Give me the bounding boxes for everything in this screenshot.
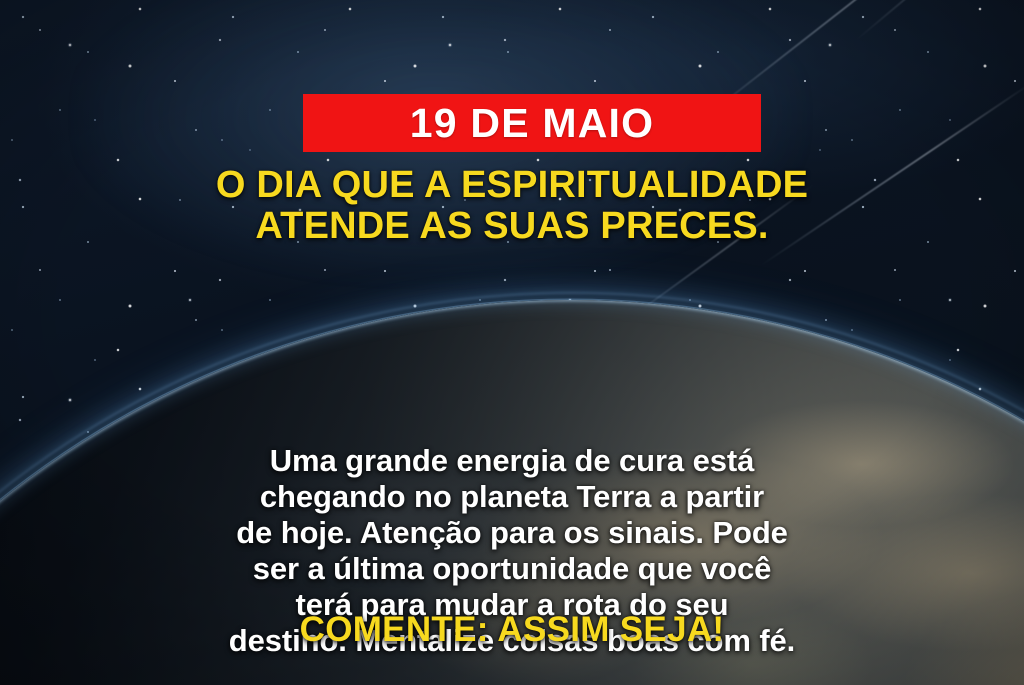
date-banner-label: 19 DE MAIO [410, 103, 654, 144]
headline-line-2: ATENDE AS SUAS PRECES. [40, 206, 984, 247]
call-to-action-label: COMENTE: ASSIM SEJA! [300, 610, 725, 649]
body-line-3: de hoje. Atenção para os sinais. Pode [55, 515, 969, 551]
body-line-4: ser a última oportunidade que você [55, 551, 969, 587]
call-to-action: COMENTE: ASSIM SEJA! [0, 612, 1024, 647]
date-banner: 19 DE MAIO [303, 94, 761, 152]
poster-canvas: 19 DE MAIO O DIA QUE A ESPIRITUALIDADE A… [0, 0, 1024, 685]
body-line-1: Uma grande energia de cura está [55, 443, 969, 479]
body-line-2: chegando no planeta Terra a partir [55, 479, 969, 515]
headline-line-1: O DIA QUE A ESPIRITUALIDADE [40, 165, 984, 206]
headline: O DIA QUE A ESPIRITUALIDADE ATENDE AS SU… [0, 165, 1024, 247]
poster-content: 19 DE MAIO O DIA QUE A ESPIRITUALIDADE A… [0, 0, 1024, 685]
